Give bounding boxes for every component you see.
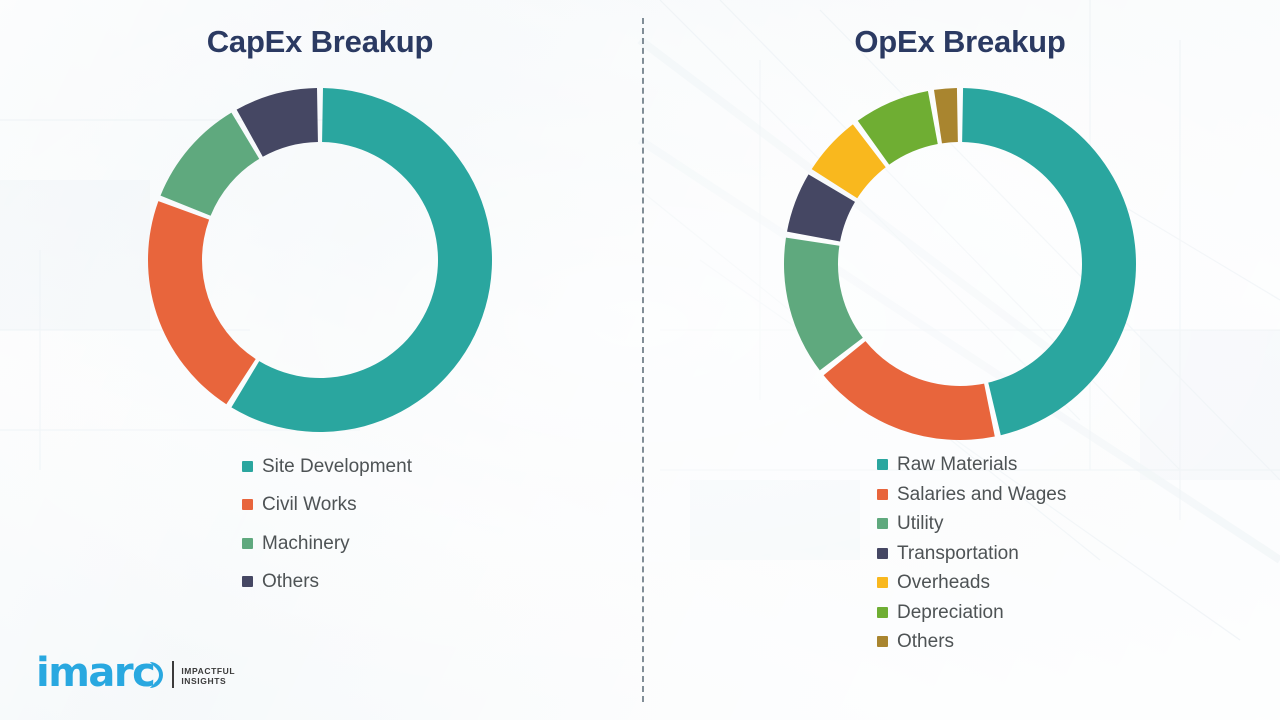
logo-tagline-line2: INSIGHTS <box>181 676 235 687</box>
legend-swatch-icon <box>877 636 888 647</box>
legend-swatch-icon <box>242 461 253 472</box>
opex-chart-title: OpEx Breakup <box>640 24 1280 60</box>
legend-label: Site Development <box>262 457 412 476</box>
logo-wordmark: imarc <box>36 656 154 690</box>
donut-segment <box>934 88 958 143</box>
logo-tagline: IMPACTFUL INSIGHTS <box>181 666 235 687</box>
donut-segment <box>824 341 995 440</box>
legend-swatch-icon <box>242 499 253 510</box>
legend-label: Raw Materials <box>897 455 1017 474</box>
legend-swatch-icon <box>877 577 888 588</box>
legend-label: Others <box>897 632 954 651</box>
legend-swatch-icon <box>877 489 888 500</box>
capex-legend-item-3[interactable]: Others <box>242 563 640 602</box>
legend-swatch-icon <box>877 607 888 618</box>
logo-divider <box>172 661 174 688</box>
capex-legend-item-1[interactable]: Civil Works <box>242 486 640 525</box>
donut-segment <box>148 201 256 404</box>
legend-label: Machinery <box>262 534 350 553</box>
legend-swatch-icon <box>242 538 253 549</box>
opex-legend-item-4[interactable]: Overheads <box>877 568 1280 598</box>
legend-label: Others <box>262 572 319 591</box>
opex-legend-item-6[interactable]: Others <box>877 627 1280 657</box>
legend-swatch-icon <box>877 548 888 559</box>
legend-label: Salaries and Wages <box>897 485 1066 504</box>
capex-legend-item-2[interactable]: Machinery <box>242 524 640 563</box>
opex-donut-chart <box>782 86 1138 447</box>
donut-segment <box>962 88 1136 435</box>
legend-swatch-icon <box>877 518 888 529</box>
capex-donut-chart <box>146 86 494 439</box>
opex-legend-item-5[interactable]: Depreciation <box>877 598 1280 628</box>
opex-legend: Raw MaterialsSalaries and WagesUtilityTr… <box>640 450 1280 657</box>
opex-legend-item-3[interactable]: Transportation <box>877 539 1280 569</box>
legend-label: Overheads <box>897 573 990 592</box>
legend-label: Civil Works <box>262 495 357 514</box>
legend-swatch-icon <box>877 459 888 470</box>
legend-label: Depreciation <box>897 603 1004 622</box>
logo-tagline-line1: IMPACTFUL <box>181 666 235 677</box>
opex-legend-item-0[interactable]: Raw Materials <box>877 450 1280 480</box>
logo-arc-icon <box>150 662 163 688</box>
legend-label: Utility <box>897 514 943 533</box>
capex-panel: CapEx Breakup Site DevelopmentCivil Work… <box>0 0 640 720</box>
opex-legend-item-2[interactable]: Utility <box>877 509 1280 539</box>
opex-donut-svg <box>782 86 1138 442</box>
capex-legend-item-0[interactable]: Site Development <box>242 447 640 486</box>
capex-chart-title: CapEx Breakup <box>0 24 640 60</box>
legend-swatch-icon <box>242 576 253 587</box>
capex-donut-svg <box>146 86 494 434</box>
capex-legend: Site DevelopmentCivil WorksMachineryOthe… <box>0 447 640 601</box>
donut-segment <box>784 238 863 371</box>
donut-segment <box>161 113 260 216</box>
opex-panel: OpEx Breakup Raw MaterialsSalaries and W… <box>640 0 1280 720</box>
imarc-logo: imarc IMPACTFUL INSIGHTS <box>36 656 235 690</box>
opex-legend-item-1[interactable]: Salaries and Wages <box>877 480 1280 510</box>
legend-label: Transportation <box>897 544 1019 563</box>
